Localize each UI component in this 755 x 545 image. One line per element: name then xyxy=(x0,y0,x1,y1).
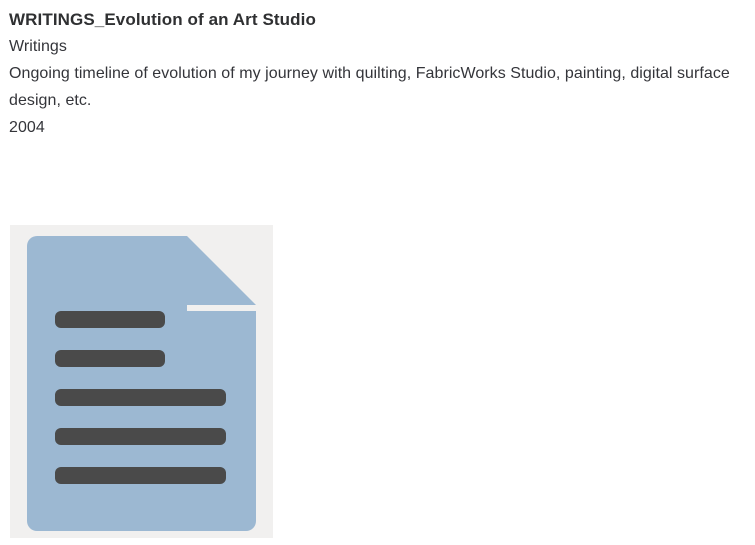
document-line-1 xyxy=(55,311,165,328)
record-detail-view: WRITINGS_Evolution of an Art Studio Writ… xyxy=(0,0,755,545)
document-line-2 xyxy=(55,350,165,367)
document-file-icon xyxy=(10,225,273,538)
thumbnail-panel[interactable] xyxy=(10,225,273,538)
record-description: Ongoing timeline of evolution of my jour… xyxy=(9,60,753,114)
record-title: WRITINGS_Evolution of an Art Studio xyxy=(9,7,755,33)
document-line-3 xyxy=(55,389,226,406)
document-fold-corner xyxy=(187,236,256,305)
record-category: Writings xyxy=(9,33,755,60)
record-year: 2004 xyxy=(9,114,755,141)
document-line-4 xyxy=(55,428,226,445)
document-line-5 xyxy=(55,467,226,484)
record-text-block: WRITINGS_Evolution of an Art Studio Writ… xyxy=(9,7,755,141)
